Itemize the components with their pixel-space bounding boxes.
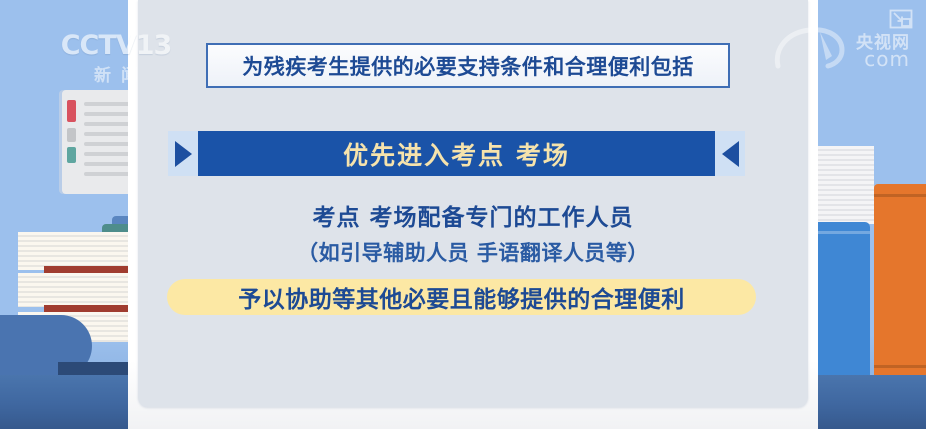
illustration-book-stack: [18, 273, 144, 307]
body-line-secondary: （如引导辅助人员 手语翻译人员等）: [138, 237, 808, 267]
illustration-book-stack: [18, 232, 144, 270]
illustration-paper-stack: [812, 146, 874, 224]
banner-right-arrow: [715, 141, 745, 167]
primary-banner: 优先进入考点 考场: [168, 131, 745, 176]
headline-box: 为残疾考生提供的必要支持条件和合理便利包括: [206, 43, 730, 88]
document-bookmark-teal: [67, 147, 76, 163]
banner-left-arrow: [168, 141, 198, 167]
illustration-standing-book-orange: [874, 184, 926, 380]
body-line-primary: 考点 考场配备专门的工作人员: [138, 198, 808, 232]
triangle-right-icon: [175, 141, 192, 167]
banner-bar: 优先进入考点 考场: [198, 131, 715, 176]
document-bookmark-red: [67, 100, 76, 122]
banner-text: 优先进入考点 考场: [343, 136, 570, 172]
broadcast-screen: 为残疾考生提供的必要支持条件和合理便利包括 优先进入考点 考场 考点 考场配备专…: [0, 0, 926, 429]
document-bookmark-grey: [67, 128, 76, 142]
highlight-pill: 予以协助等其他必要且能够提供的合理便利: [167, 279, 756, 315]
headline-text: 为残疾考生提供的必要支持条件和合理便利包括: [242, 51, 694, 81]
illustration-standing-book-blue: [812, 222, 870, 380]
triangle-left-icon: [722, 141, 739, 167]
highlight-text: 予以协助等其他必要且能够提供的合理便利: [238, 280, 685, 314]
restore-window-icon[interactable]: [889, 9, 913, 29]
